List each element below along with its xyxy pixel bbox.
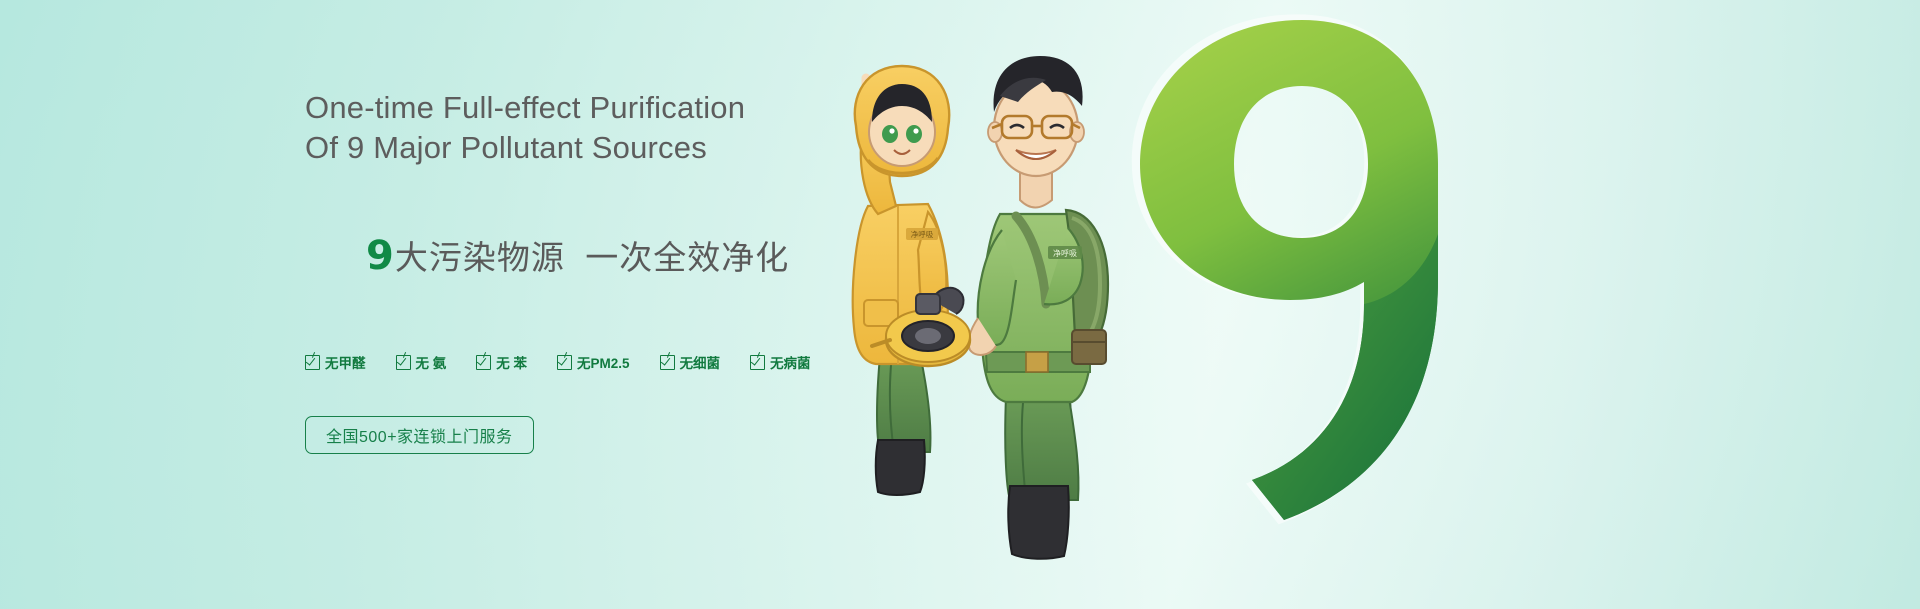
nationwide-service-button[interactable]: 全国500+家连锁上门服务 — [305, 416, 534, 454]
checkbox-check-icon — [305, 355, 320, 370]
feature-tag: 无甲醛 — [305, 352, 366, 372]
copy-block: One-time Full-effect Purification Of 9 M… — [305, 88, 1085, 454]
feature-tag: 无病菌 — [750, 352, 811, 372]
checkbox-check-icon — [396, 355, 411, 370]
headline-chinese-text: 大污染物源 一次全效净化 — [395, 239, 789, 276]
headline-english: One-time Full-effect Purification Of 9 M… — [305, 88, 1085, 168]
headline-chinese: 9大污染物源 一次全效净化 — [305, 190, 1085, 324]
feature-tag: 无 氨 — [396, 352, 447, 372]
checkbox-check-icon — [476, 355, 491, 370]
feature-tag-label: 无细菌 — [680, 352, 721, 372]
checkbox-check-icon — [557, 355, 572, 370]
checkbox-check-icon — [660, 355, 675, 370]
feature-tag-label: 无甲醛 — [325, 352, 366, 372]
nine-shape — [1140, 20, 1438, 520]
feature-tag-label: 无PM2.5 — [577, 352, 630, 372]
checkbox-check-icon — [750, 355, 765, 370]
feature-tag-list: 无甲醛 无 氨 无 苯 无PM2.5 无细菌 无病菌 — [305, 352, 1085, 372]
promo-banner: 净呼吸 — [0, 0, 1920, 609]
feature-tag-label: 无 苯 — [496, 352, 527, 372]
feature-tag-label: 无病菌 — [770, 352, 811, 372]
feature-tag: 无PM2.5 — [557, 352, 630, 372]
feature-tag-label: 无 氨 — [416, 352, 447, 372]
headline-number-nine: 9 — [366, 233, 394, 279]
feature-tag: 无细菌 — [660, 352, 721, 372]
feature-tag: 无 苯 — [476, 352, 527, 372]
